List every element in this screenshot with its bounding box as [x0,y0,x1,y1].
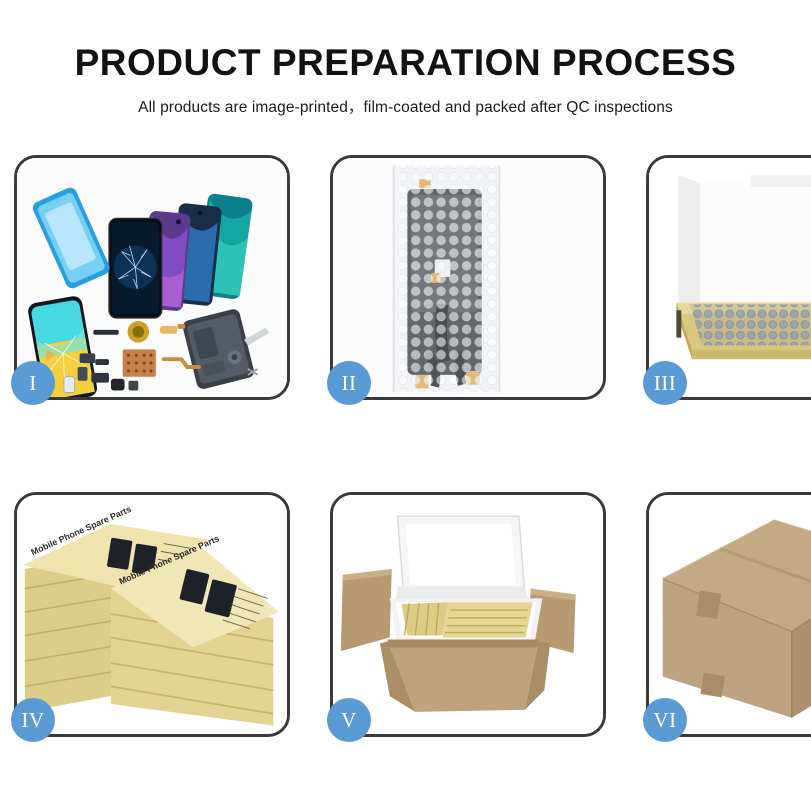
step-badge-2: II [327,361,371,405]
photo-stacked-gold-boxes: Mobile Phone Spare Parts Mobile [17,495,287,734]
page-subtitle: All products are image-printed，film-coat… [0,95,811,117]
photo-screen-wrapped-in-bubble-wrap [333,158,603,397]
step-card-3[interactable]: III [646,155,811,400]
step-badge-3: III [643,361,687,405]
step-badge-6: VI [643,698,687,742]
step-card-2[interactable]: II [330,155,606,400]
page-header: PRODUCT PREPARATION PROCESS All products… [0,0,811,117]
step-badge-1: I [11,361,55,405]
photo-open-gold-box-with-bubble-wrapped-items [649,158,811,397]
step-badge-4: IV [11,698,55,742]
step-card-1[interactable]: I [14,155,290,400]
process-steps-grid: I [14,155,797,737]
step-badge-5: V [327,698,371,742]
photo-carton-with-foam-and-gold-boxes [333,495,603,734]
photo-phone-screens-and-spare-parts [17,158,287,397]
photo-sealed-shipping-carton [649,495,811,734]
step-card-6[interactable]: VI [646,492,811,737]
step-card-5[interactable]: V [330,492,606,737]
page-title: PRODUCT PREPARATION PROCESS [0,44,811,83]
step-card-4[interactable]: Mobile Phone Spare Parts Mobile [14,492,290,737]
